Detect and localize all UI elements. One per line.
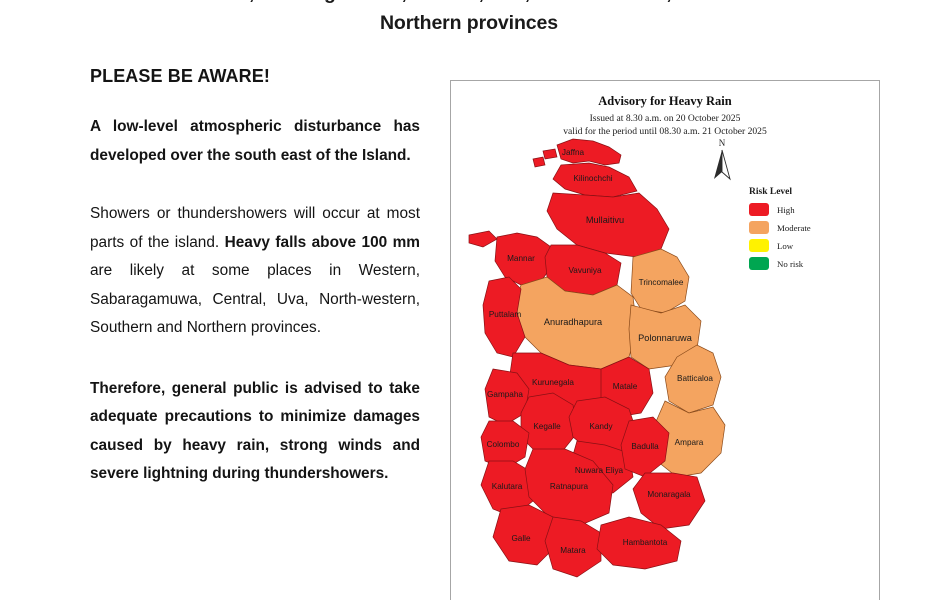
page-title: For Western, Sabaragamuwa, Central, Uva,… (60, 0, 878, 38)
legend-label-low: Low (777, 241, 793, 251)
legend-label-no-risk: No risk (777, 259, 803, 269)
label-nuwara-eliya: Nuwara Eliya (575, 466, 624, 475)
page-title-line-1: For Western, Sabaragamuwa, Central, Uva,… (60, 0, 878, 8)
label-kandy: Kandy (589, 422, 613, 431)
label-kurunegala: Kurunegala (532, 378, 574, 387)
map-title: Advisory for Heavy Rain (451, 94, 879, 109)
paragraph-precautions: Therefore, general public is advised to … (90, 375, 420, 489)
paragraph-spacer-2 (90, 343, 420, 375)
label-puttalam: Puttalam (489, 310, 521, 319)
paragraph-showers: Showers or thundershowers will occur at … (90, 200, 420, 343)
paragraph-showers-part-2: are likely at some places in Western, Sa… (90, 262, 420, 336)
label-hambantota: Hambantota (623, 538, 668, 547)
legend-item-no-risk: No risk (749, 257, 869, 270)
label-kilinochchi: Kilinochchi (573, 174, 612, 183)
label-badulla: Badulla (631, 442, 659, 451)
legend-item-low: Low (749, 239, 869, 252)
paragraph-disturbance: A low-level atmospheric disturbance has … (90, 113, 420, 170)
label-jaffna: Jaffna (562, 148, 585, 157)
risk-level-legend: Risk Level High Moderate Low No risk (749, 187, 869, 275)
label-ampara: Ampara (675, 438, 704, 447)
label-gampaha: Gampaha (487, 390, 523, 399)
label-batticaloa: Batticaloa (677, 374, 713, 383)
district-jaffna-islet-a (543, 149, 557, 159)
legend-label-high: High (777, 205, 795, 215)
label-trincomalee: Trincomalee (639, 278, 684, 287)
label-matara: Matara (560, 546, 586, 555)
label-kegalle: Kegalle (533, 422, 561, 431)
label-colombo: Colombo (487, 440, 520, 449)
label-kalutara: Kalutara (492, 482, 523, 491)
label-ratnapura: Ratnapura (550, 482, 589, 491)
legend-title: Risk Level (749, 187, 869, 197)
page-title-line-2: Northern provinces (60, 8, 878, 38)
advisory-map-panel: Advisory for Heavy Rain Issued at 8.30 a… (450, 80, 880, 600)
map-issued-text: Issued at 8.30 a.m. on 20 October 2025 (451, 113, 879, 124)
legend-item-moderate: Moderate (749, 221, 869, 234)
legend-item-high: High (749, 203, 869, 216)
label-vavuniya: Vavuniya (568, 266, 602, 275)
label-mannar: Mannar (507, 254, 535, 263)
label-anuradhapura: Anuradhapura (544, 317, 603, 327)
legend-label-moderate: Moderate (777, 223, 811, 233)
sri-lanka-risk-map: Jaffna Kilinochchi Mullaitivu Mannar Vav… (453, 133, 753, 600)
please-be-aware-heading: PLEASE BE AWARE! (90, 66, 420, 87)
paragraph-spacer-1 (90, 170, 420, 200)
district-mannar-island (469, 231, 497, 247)
district-jaffna-islet-b (533, 157, 545, 167)
label-matale: Matale (613, 382, 638, 391)
paragraph-showers-emphasis: Heavy falls above 100 mm (225, 234, 420, 251)
label-monaragala: Monaragala (647, 490, 691, 499)
advisory-text-column: PLEASE BE AWARE! A low-level atmospheric… (90, 66, 420, 489)
label-mullaitivu: Mullaitivu (586, 215, 624, 225)
label-galle: Galle (511, 534, 531, 543)
label-polonnaruwa: Polonnaruwa (638, 333, 693, 343)
map-districts (469, 139, 725, 577)
